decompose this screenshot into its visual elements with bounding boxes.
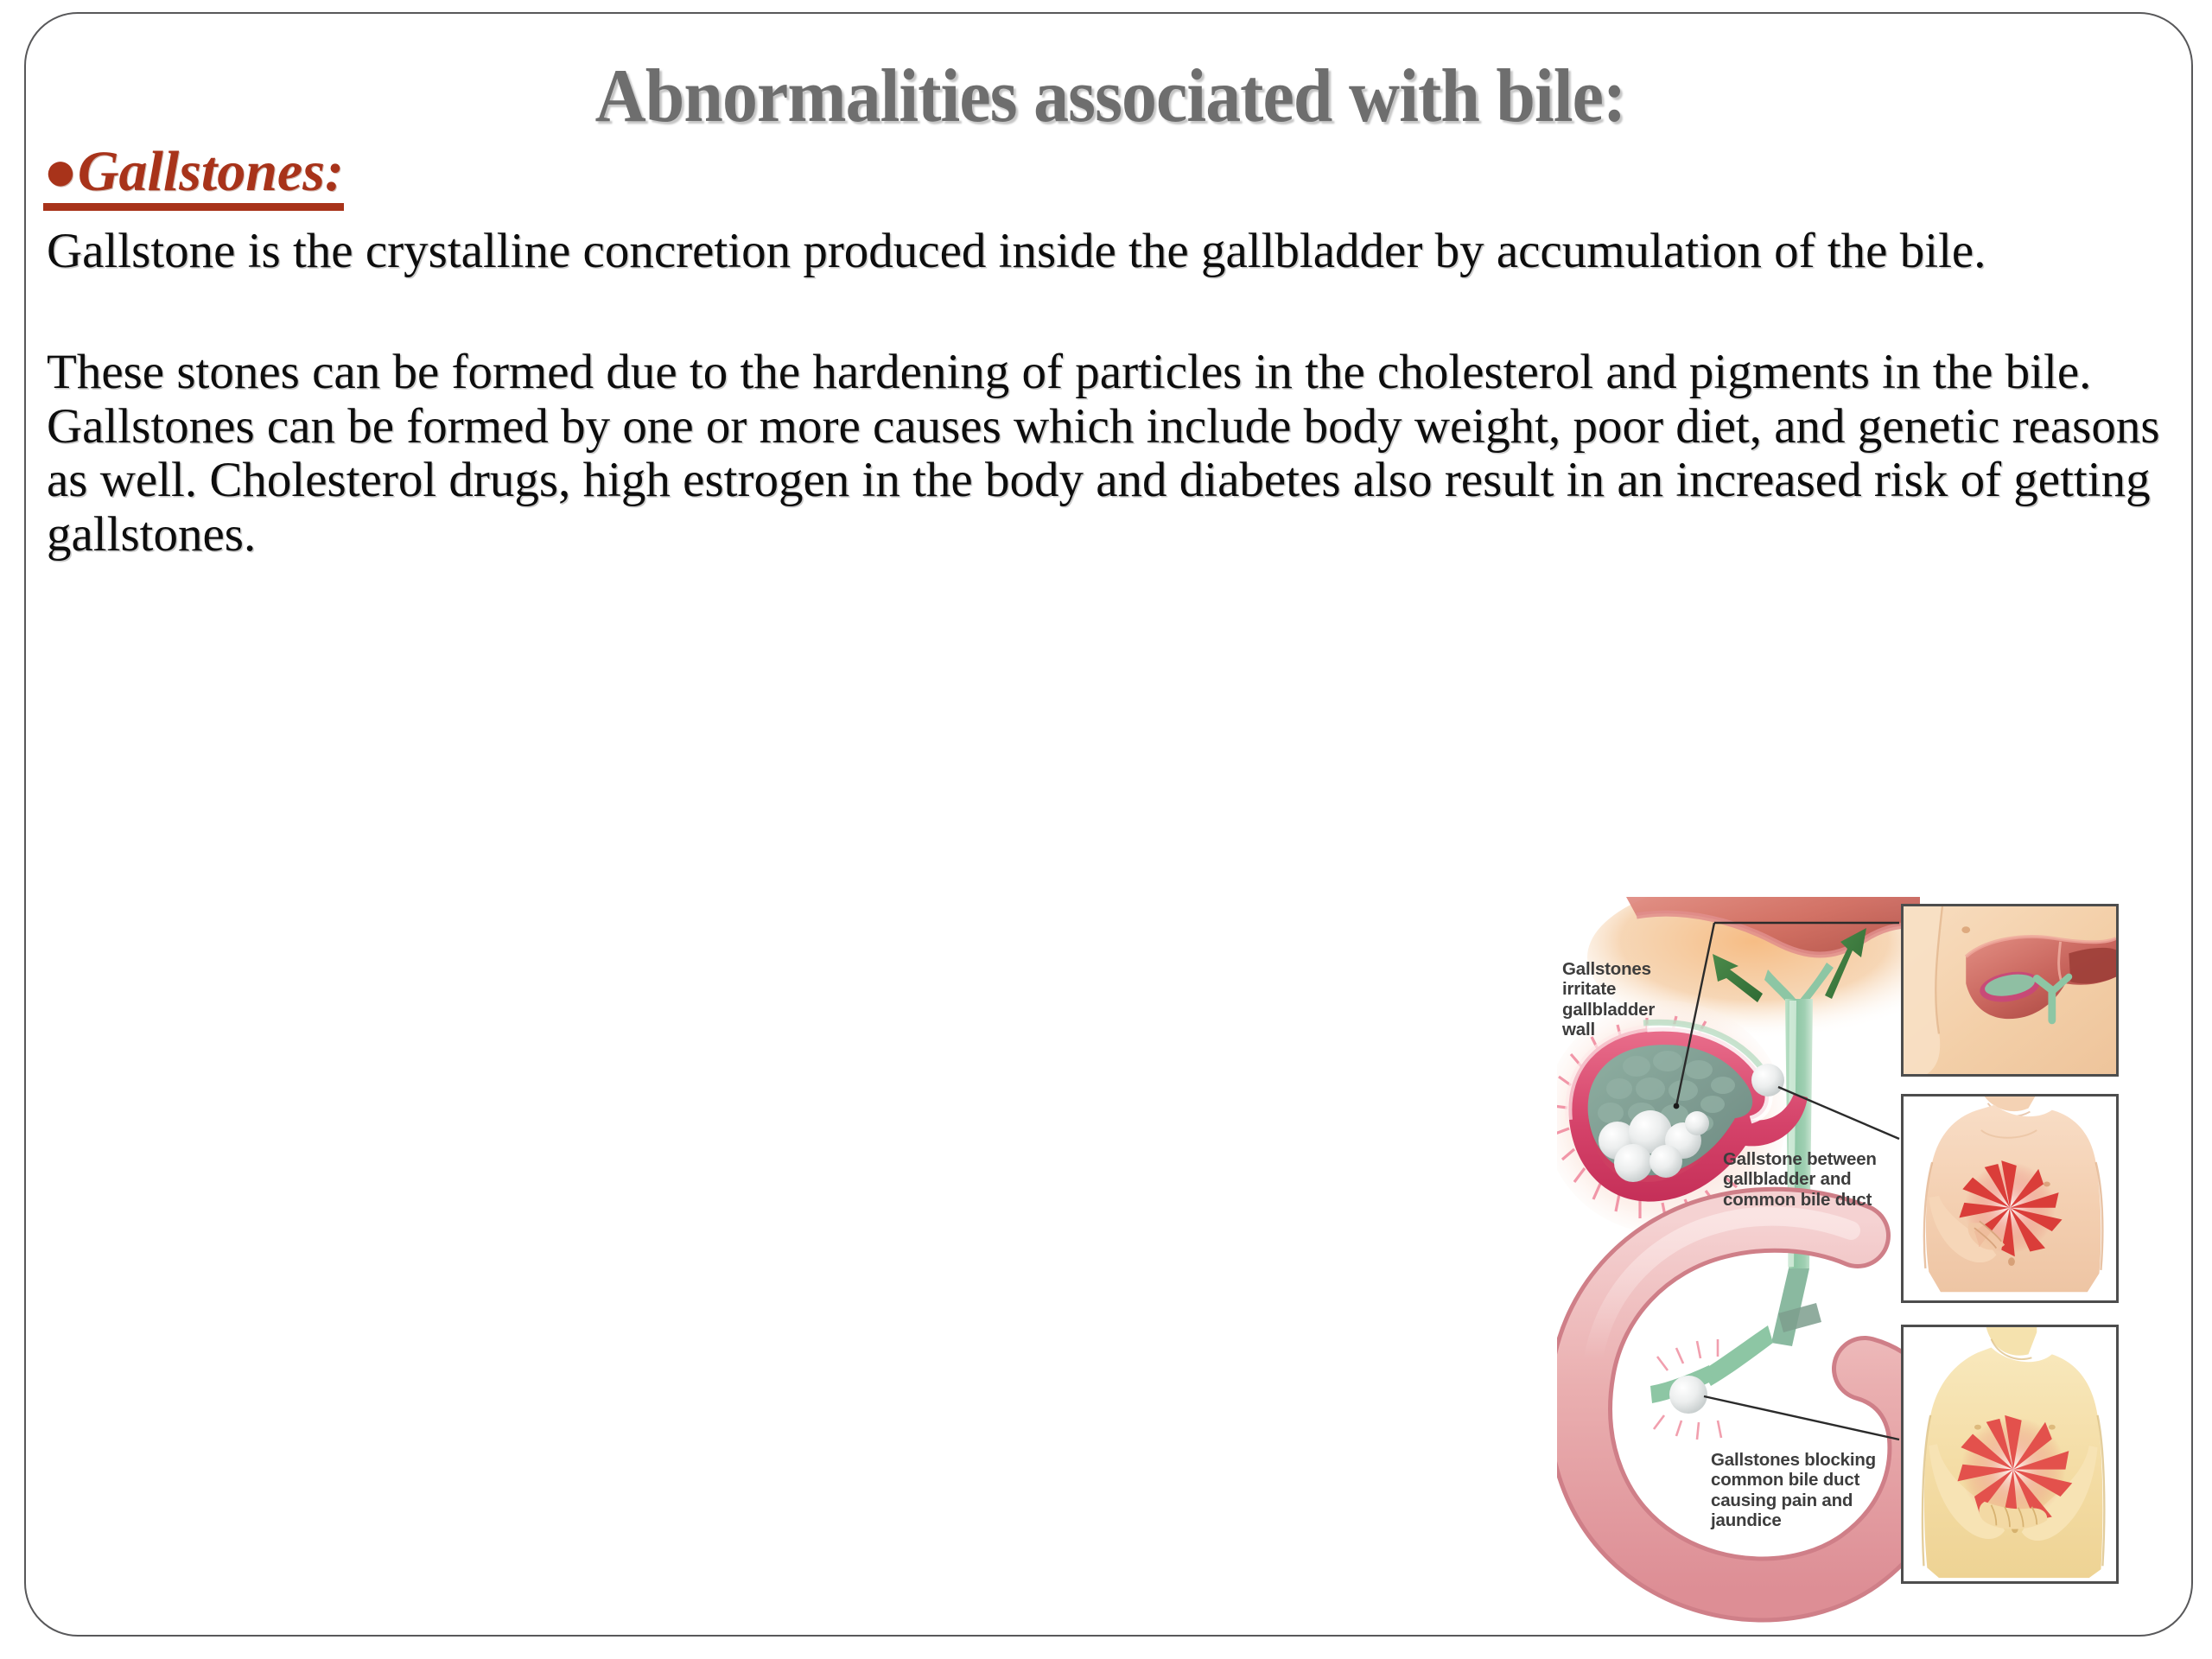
paragraph-definition: Gallstone is the crystalline concretion … <box>47 225 2103 279</box>
inset-middle-drawing <box>1904 1096 2116 1300</box>
section-heading-label: ●Gallstones: <box>43 142 344 211</box>
diagram-label-blocking: Gallstones blocking common bile duct cau… <box>1711 1450 1876 1530</box>
inset-torso-pain <box>1901 1094 2119 1303</box>
gallstone-at-neck <box>1751 1064 1784 1096</box>
paragraph-causes: These stones can be formed due to the ha… <box>47 346 2164 563</box>
gallstone-blocking-duct <box>1669 1376 1707 1414</box>
duodenum <box>1580 1217 1920 1590</box>
inset-bottom-drawing <box>1904 1327 2116 1581</box>
page-title: Abnormalities associated with bile: <box>102 59 2119 135</box>
inset-liver-gallbladder-location <box>1901 904 2119 1077</box>
diagram-label-irritate: Gallstones irritate gallbladder wall <box>1562 959 1655 1039</box>
inset-top-drawing <box>1904 906 2116 1074</box>
gallstones-anatomy-illustration: Gallstones irritate gallbladder wall Gal… <box>1557 897 2153 1637</box>
section-heading-gallstones: ●Gallstones: <box>43 142 344 211</box>
slide-canvas: Abnormalities associated with bile: ●Gal… <box>24 12 2193 1637</box>
inset-torso-jaundice <box>1901 1325 2119 1584</box>
diagram-label-between: Gallstone between gallbladder and common… <box>1723 1149 1877 1210</box>
